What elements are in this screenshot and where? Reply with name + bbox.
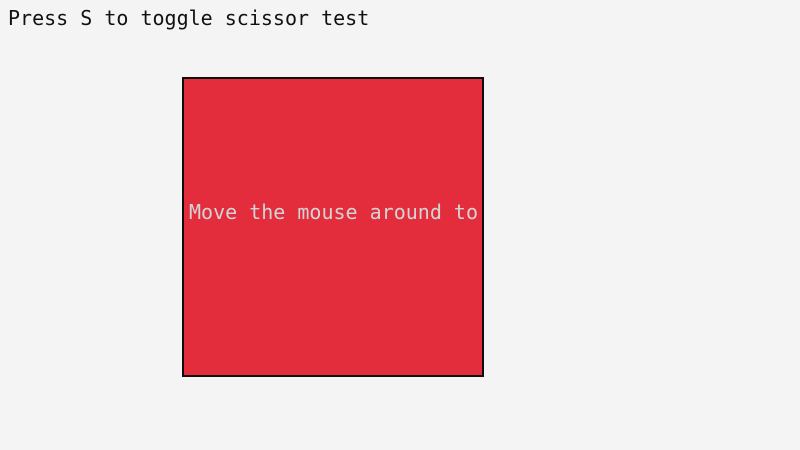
scissor-clipped-text: Move the mouse around to resize the scis… xyxy=(189,200,484,224)
scissor-test-rectangle[interactable]: Move the mouse around to resize the scis… xyxy=(182,77,484,377)
app-canvas: Press S to toggle scissor test Move the … xyxy=(0,0,800,450)
instruction-label: Press S to toggle scissor test xyxy=(8,6,369,30)
